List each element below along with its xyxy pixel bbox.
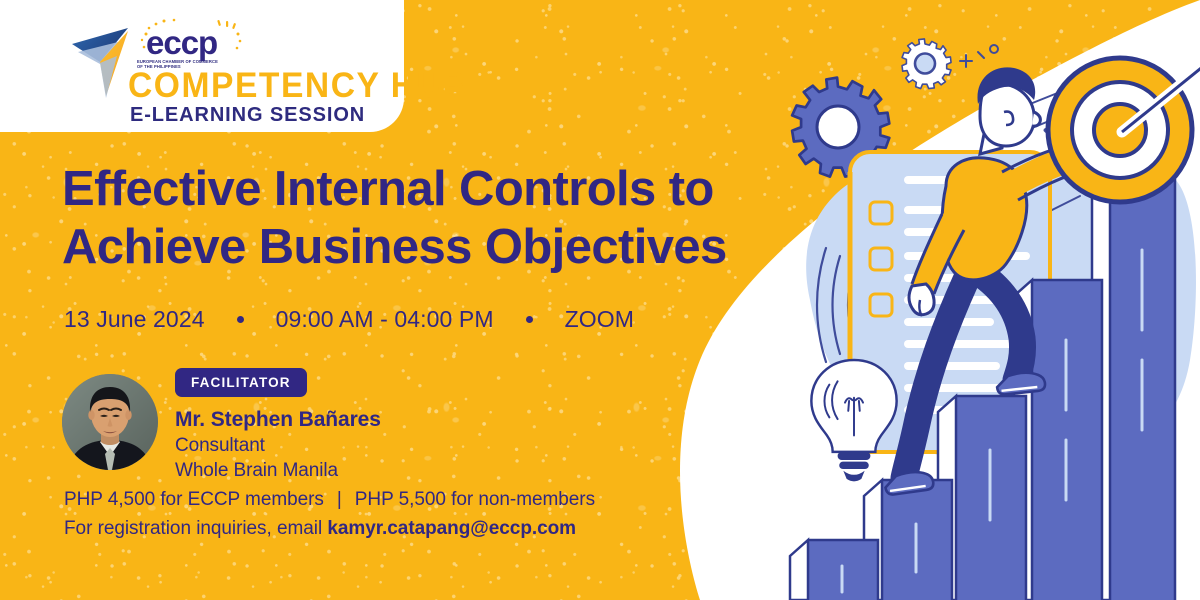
event-meta: 13 June 2024 09:00 AM - 04:00 PM ZOOM (64, 306, 634, 333)
speaker-portrait-icon (62, 374, 158, 470)
member-price: PHP 4,500 for ECCP members (64, 489, 324, 511)
contact-email[interactable]: kamyr.catapang@eccp.com (327, 518, 576, 539)
facilitator-role: Consultant (175, 433, 381, 458)
pricing-row: PHP 4,500 for ECCP members | PHP 5,500 f… (64, 489, 595, 511)
bullet-separator-icon (526, 316, 533, 323)
contact-row: For registration inquiries, email kamyr.… (64, 518, 576, 540)
event-platform: ZOOM (565, 306, 634, 333)
event-time: 09:00 AM - 04:00 PM (276, 306, 494, 333)
facilitator-name: Mr. Stephen Bañares (175, 408, 381, 432)
contact-prefix: For registration inquiries, email (64, 518, 327, 539)
business-goal-achievement-illustration (770, 0, 1200, 600)
avatar (62, 374, 158, 470)
headline-line-2: Achieve Business Objectives (62, 218, 852, 276)
promotional-banner: eccp EUROPEAN CHAMBER OF COMMERCE OF THE… (0, 0, 1200, 600)
event-date: 13 June 2024 (64, 306, 205, 333)
page-title: Effective Internal Controls to Achieve B… (62, 160, 852, 276)
svg-text:eccp: eccp (146, 24, 217, 61)
headline-line-1: Effective Internal Controls to (62, 160, 852, 218)
pipe-separator: | (337, 489, 342, 511)
facilitator-organization: Whole Brain Manila (175, 458, 381, 483)
eccp-brand-lockup: eccp EUROPEAN CHAMBER OF COMMERCE OF THE… (70, 18, 400, 128)
facilitator-block: FACILITATOR Mr. Stephen Bañares Consulta… (62, 368, 381, 483)
program-title: COMPETENCY HUB (128, 66, 468, 106)
paper-plane-icon (70, 26, 132, 104)
non-member-price: PHP 5,500 for non-members (355, 489, 595, 511)
bullet-separator-icon (237, 316, 244, 323)
program-subtitle: E-LEARNING SESSION (130, 104, 365, 127)
status-badge: FACILITATOR (175, 368, 307, 397)
